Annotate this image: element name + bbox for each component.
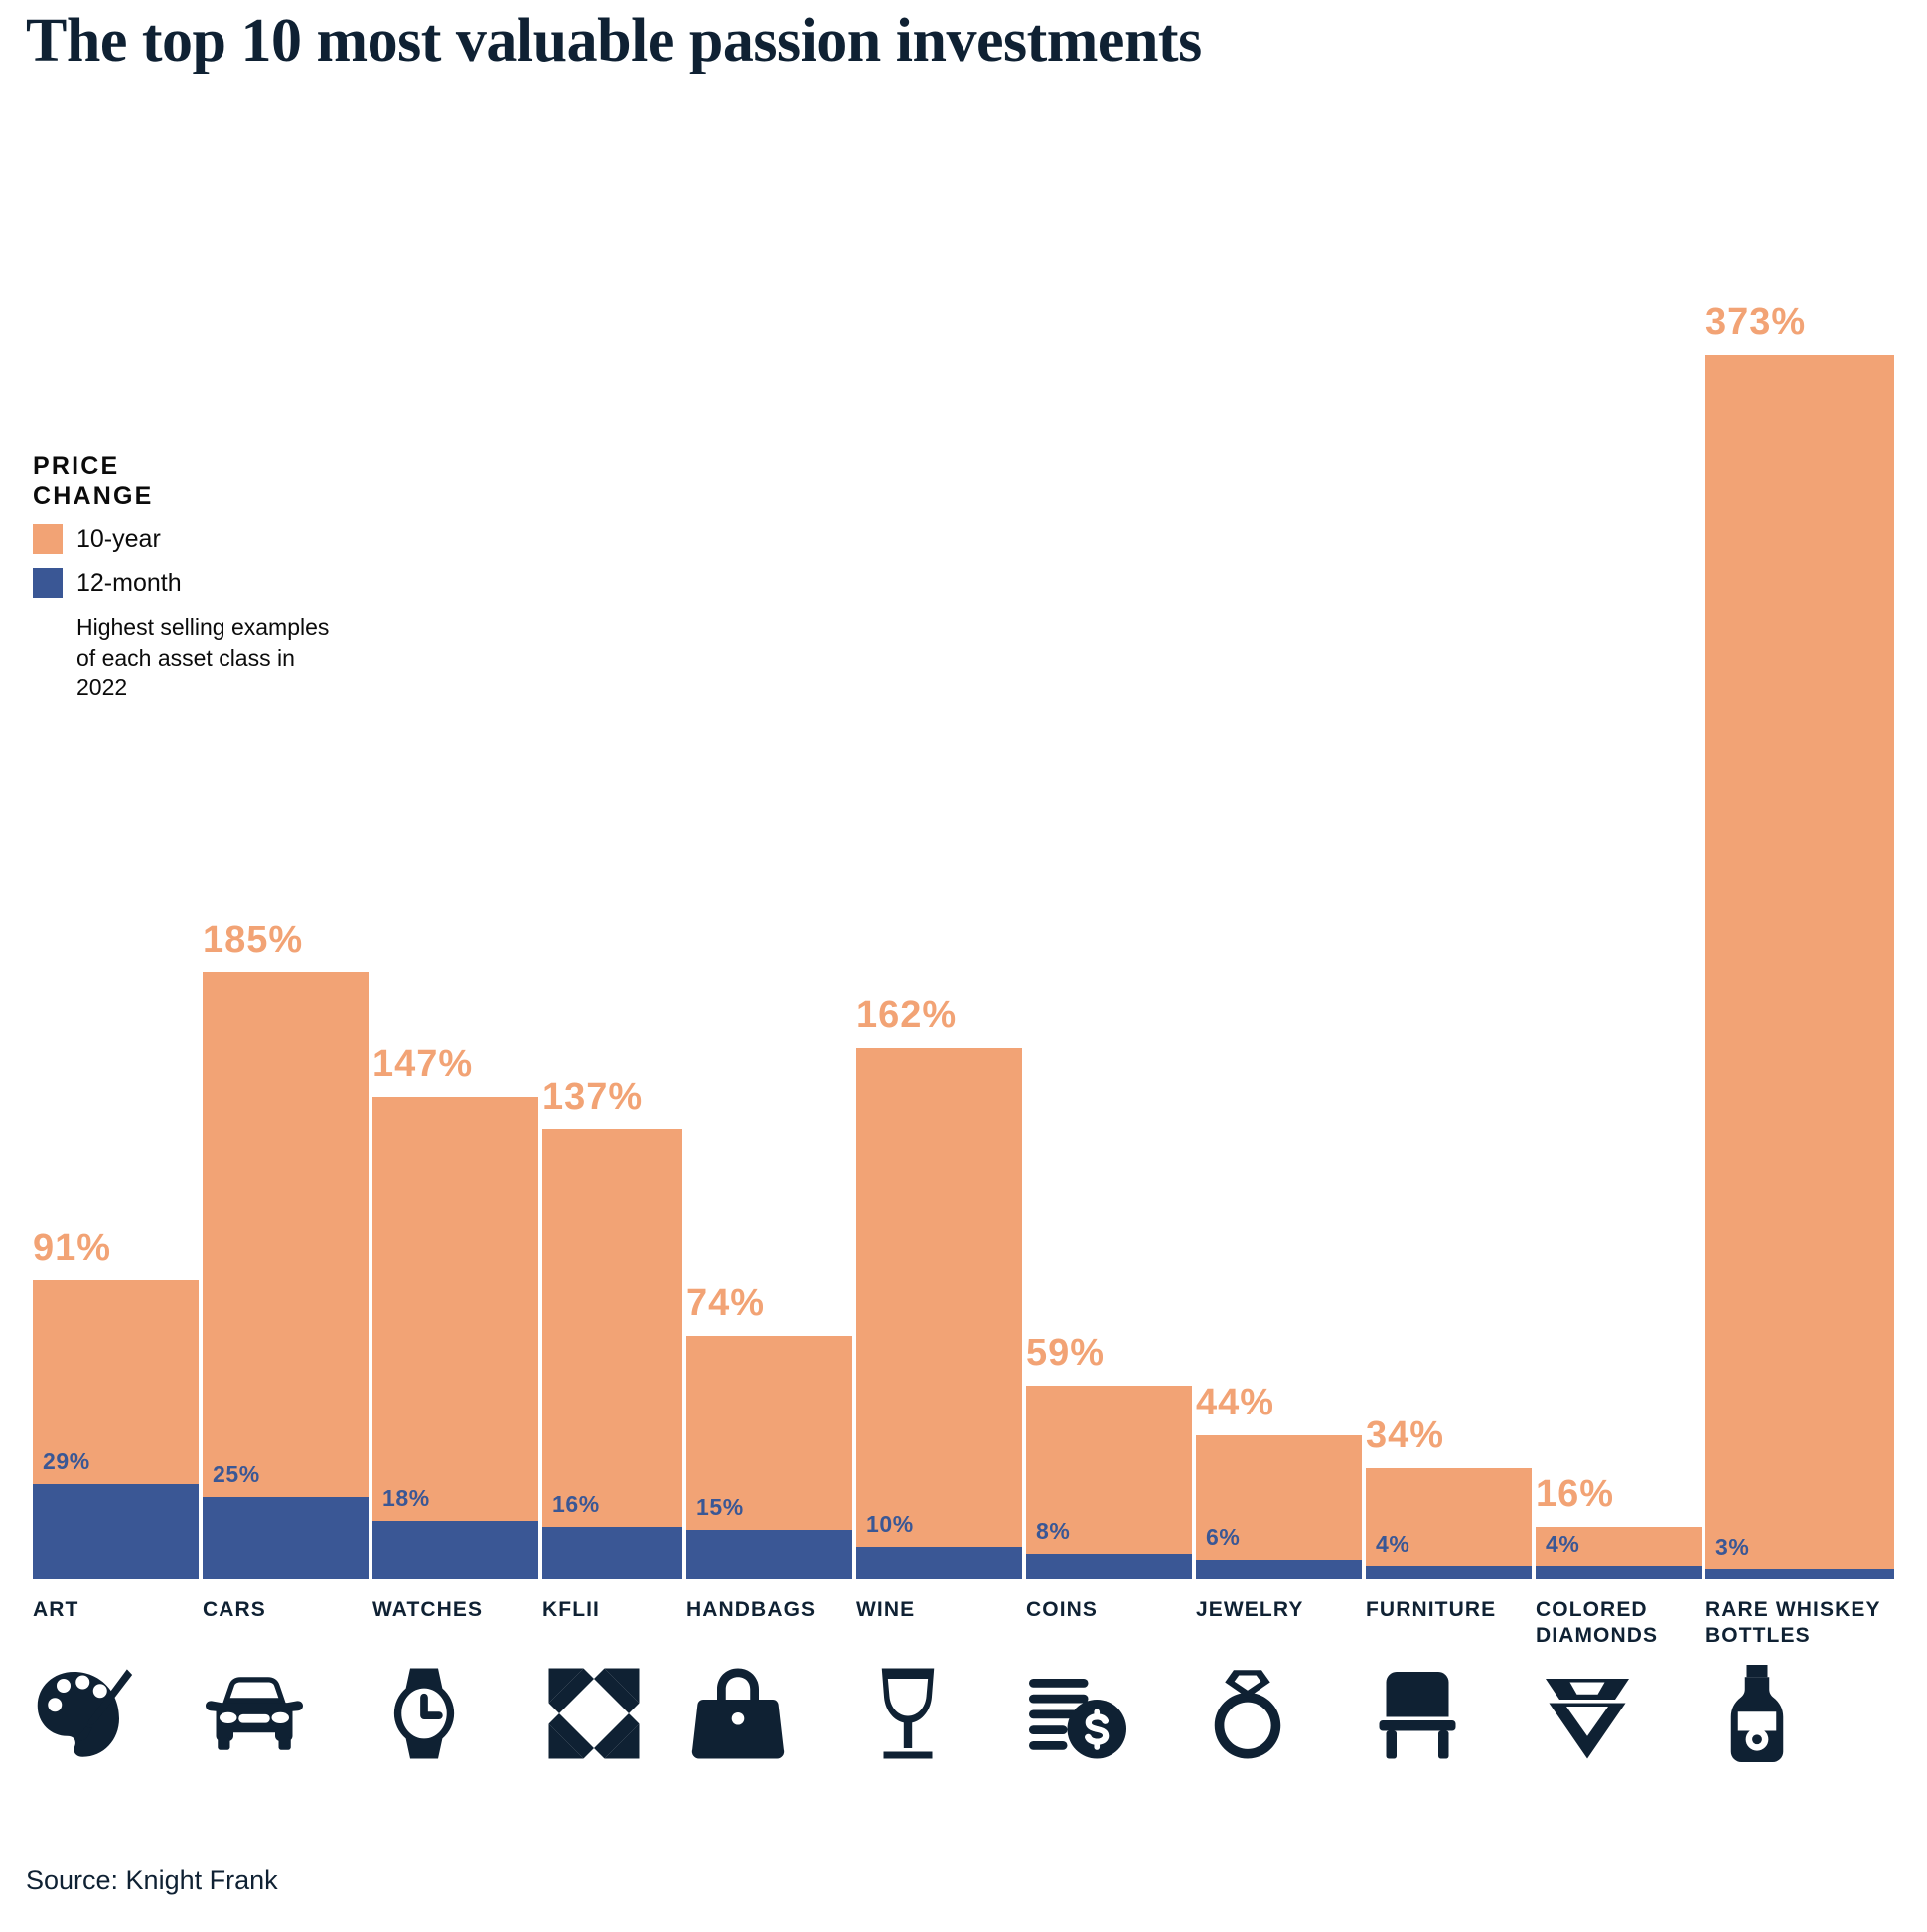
category-label-line1: COLORED (1536, 1597, 1658, 1623)
bar-value-label-10-year: 91% (33, 1227, 111, 1269)
category-label-furniture: FURNITURE (1366, 1597, 1496, 1623)
category-label-wine: WINE (856, 1597, 915, 1623)
bar-segment-10-year[interactable] (856, 1048, 1022, 1579)
bar-value-label-12-month: 15% (696, 1494, 744, 1521)
bar-value-label-12-month: 3% (1715, 1534, 1749, 1560)
bar-value-label-12-month: 4% (1376, 1531, 1409, 1558)
category-label-line1: WINE (856, 1597, 915, 1623)
bar-segment-12-month[interactable] (203, 1497, 369, 1579)
bottle-icon (1702, 1654, 1821, 1773)
category-label-kflii: KFLII (542, 1597, 600, 1623)
bar-group-wine[interactable] (856, 1048, 1022, 1579)
category-label-line1: HANDBAGS (686, 1597, 815, 1623)
watch-icon (369, 1654, 488, 1773)
bar-value-label-10-year: 44% (1196, 1382, 1274, 1424)
bar-value-label-12-month: 10% (866, 1511, 914, 1538)
bar-segment-10-year[interactable] (1196, 1435, 1362, 1579)
bar-segment-12-month[interactable] (372, 1521, 538, 1579)
bar-value-label-12-month: 6% (1206, 1524, 1240, 1551)
bar-value-label-10-year: 34% (1366, 1414, 1444, 1457)
bar-value-label-12-month: 25% (213, 1461, 260, 1488)
bar-value-label-12-month: 8% (1036, 1518, 1070, 1545)
bar-value-label-12-month: 29% (43, 1448, 90, 1475)
bar-segment-12-month[interactable] (1366, 1566, 1532, 1579)
bar-segment-10-year[interactable] (1026, 1386, 1192, 1579)
bar-value-label-10-year: 74% (686, 1282, 765, 1325)
category-label-line2: BOTTLES (1705, 1623, 1881, 1649)
car-icon (199, 1654, 318, 1773)
chart-root: The top 10 most valuable passion investm… (0, 0, 1927, 1932)
diamond-pattern-icon (538, 1654, 658, 1773)
bar-segment-12-month[interactable] (1196, 1560, 1362, 1579)
category-label-line1: RARE WHISKEY (1705, 1597, 1881, 1623)
bar-segment-10-year[interactable] (1366, 1468, 1532, 1579)
category-label-coins: COINS (1026, 1597, 1098, 1623)
category-label-colored-diamonds: COLOREDDIAMONDS (1536, 1597, 1658, 1650)
category-label-art: ART (33, 1597, 78, 1623)
bar-value-label-10-year: 162% (856, 994, 957, 1037)
bar-group-jewelry[interactable] (1196, 1435, 1362, 1579)
category-label-line2: DIAMONDS (1536, 1623, 1658, 1649)
bar-value-label-12-month: 4% (1546, 1531, 1579, 1558)
bar-group-furniture[interactable] (1366, 1468, 1532, 1579)
coins-icon (1022, 1654, 1141, 1773)
category-label-line1: JEWELRY (1196, 1597, 1303, 1623)
category-label-line1: KFLII (542, 1597, 600, 1623)
bar-group-coins[interactable] (1026, 1386, 1192, 1579)
chair-icon (1362, 1654, 1481, 1773)
bar-group-handbags[interactable] (686, 1336, 852, 1579)
category-label-line1: CARS (203, 1597, 266, 1623)
category-label-handbags: HANDBAGS (686, 1597, 815, 1623)
bar-group-rare-whiskey-bottles[interactable] (1705, 355, 1894, 1579)
bar-value-label-10-year: 16% (1536, 1473, 1614, 1516)
bar-value-label-12-month: 18% (382, 1485, 430, 1512)
category-label-rare-whiskey-bottles: RARE WHISKEYBOTTLES (1705, 1597, 1881, 1650)
bar-segment-12-month[interactable] (542, 1527, 682, 1579)
category-label-jewelry: JEWELRY (1196, 1597, 1303, 1623)
bar-value-label-10-year: 147% (372, 1043, 473, 1086)
category-label-cars: CARS (203, 1597, 266, 1623)
bar-value-label-10-year: 137% (542, 1076, 643, 1118)
gemstone-icon (1532, 1654, 1651, 1773)
source-note: Source: Knight Frank (26, 1865, 278, 1896)
bar-segment-10-year[interactable] (1705, 355, 1894, 1579)
bar-value-label-10-year: 59% (1026, 1332, 1105, 1375)
category-label-line1: ART (33, 1597, 78, 1623)
category-label-line1: FURNITURE (1366, 1597, 1496, 1623)
bar-segment-12-month[interactable] (1026, 1554, 1192, 1579)
category-label-watches: WATCHES (372, 1597, 483, 1623)
bar-value-label-10-year: 373% (1705, 301, 1806, 344)
palette-icon (29, 1654, 148, 1773)
bar-segment-12-month[interactable] (1536, 1566, 1702, 1579)
plot-area: 91%29%185%25%147%18%137%16%74%15%162%10%… (0, 0, 1927, 1579)
handbag-icon (682, 1654, 802, 1773)
category-label-line1: WATCHES (372, 1597, 483, 1623)
bar-value-label-12-month: 16% (552, 1491, 600, 1518)
category-label-line1: COINS (1026, 1597, 1098, 1623)
wine-glass-icon (852, 1654, 971, 1773)
ring-icon (1192, 1654, 1311, 1773)
bar-group-art[interactable] (33, 1280, 199, 1579)
bar-segment-12-month[interactable] (686, 1530, 852, 1579)
bar-value-label-10-year: 185% (203, 919, 303, 962)
bar-segment-12-month[interactable] (856, 1547, 1022, 1579)
category-icon-row (0, 1654, 1927, 1778)
bar-segment-12-month[interactable] (33, 1484, 199, 1579)
bar-segment-12-month[interactable] (1705, 1569, 1894, 1579)
